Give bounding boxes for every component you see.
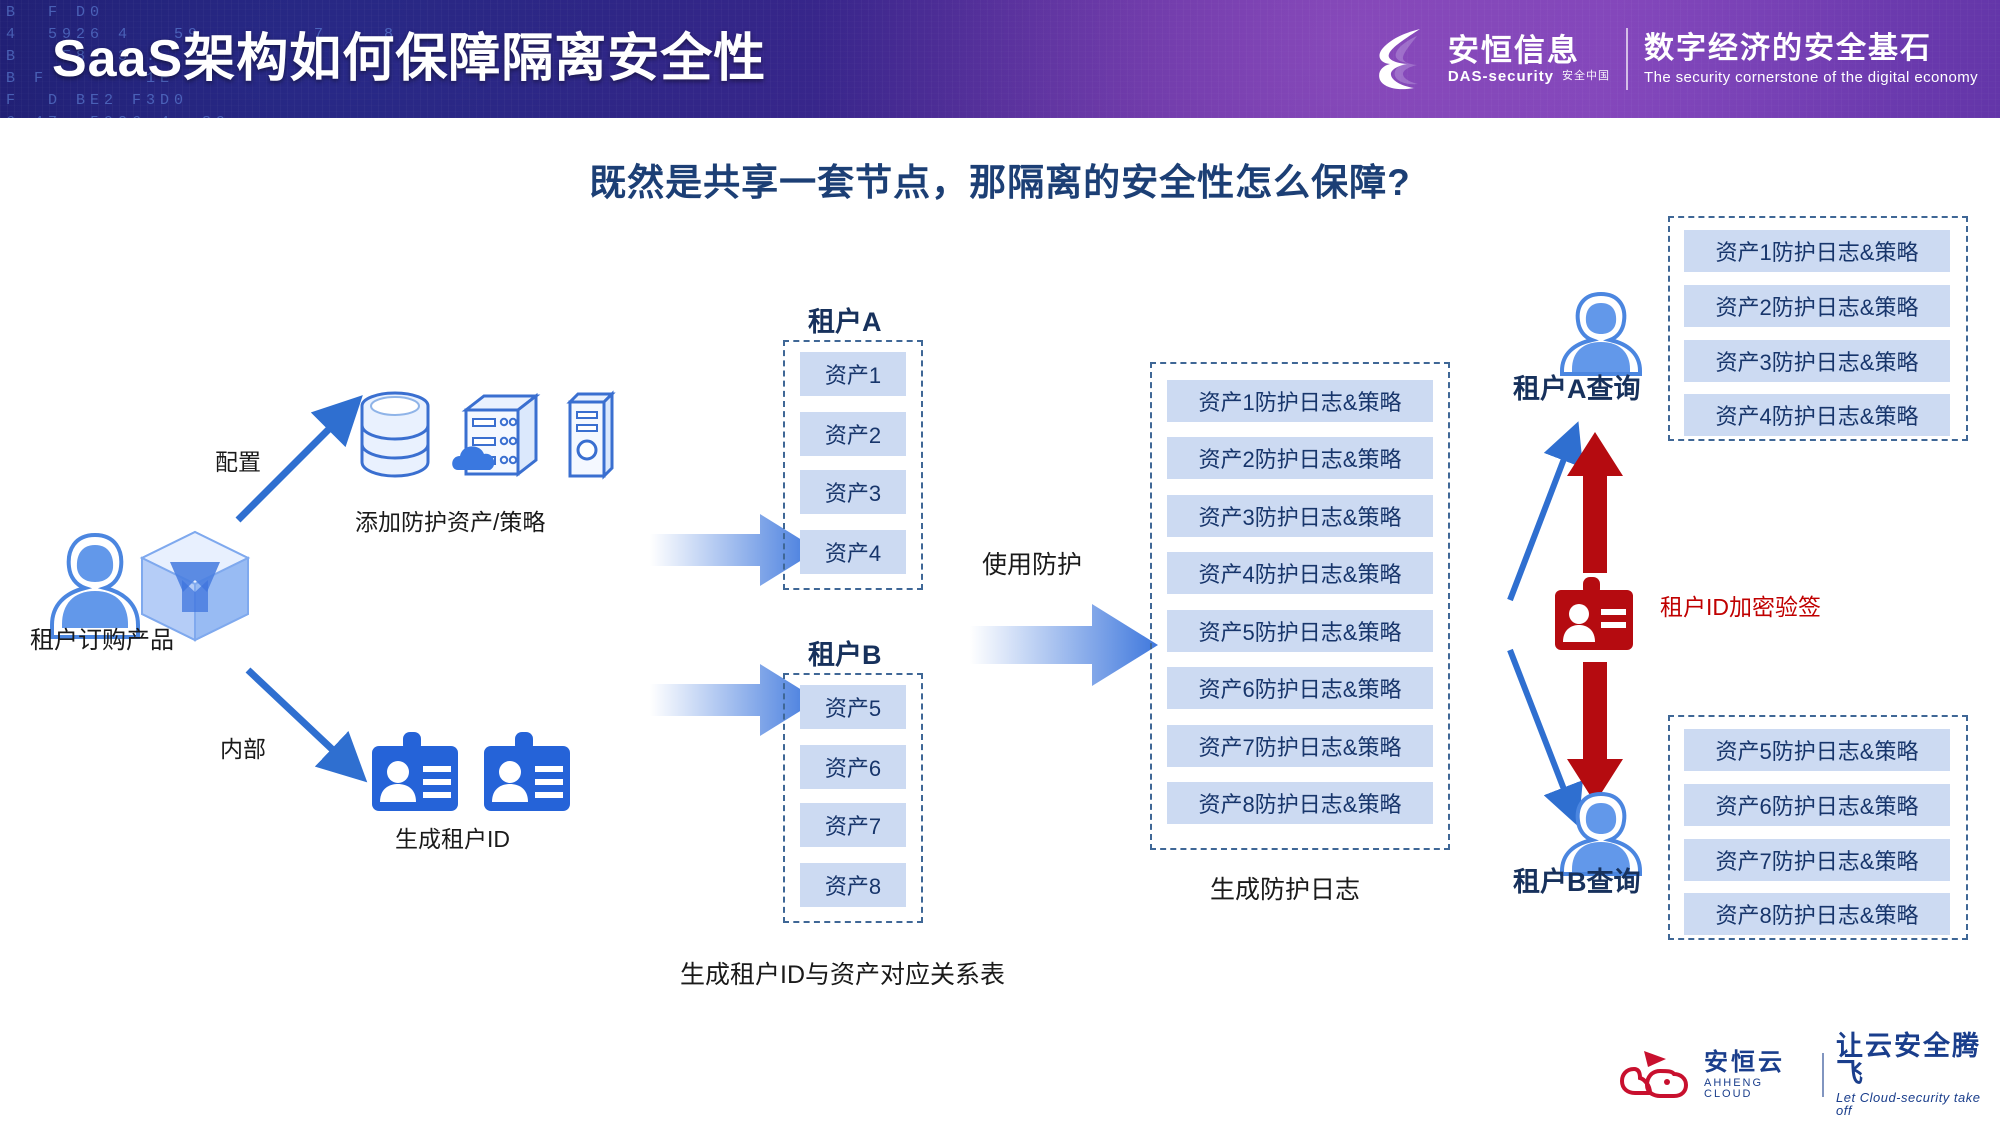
tenant-a-asset-4: 资产4 [800, 530, 906, 574]
tenant-a-title: 租户A [808, 300, 882, 339]
footer-brand-cn: 安恒云 [1704, 1051, 1810, 1075]
tenant-a-query-log-3: 资产3防护日志&策略 [1684, 340, 1950, 382]
tenant-b-asset-3: 资产7 [800, 803, 906, 847]
footer-tagline-en: Let Cloud-security take off [1836, 1091, 2000, 1117]
tenant-a-query-user-icon [1553, 290, 1649, 376]
tenant-b-asset-2: 资产6 [800, 745, 906, 789]
tenant-b-asset-4: 资产8 [800, 863, 906, 907]
use-protection-label: 使用防护 [982, 545, 1082, 581]
tenant-a-asset-1: 资产1 [800, 352, 906, 396]
use-protection-arrow [970, 600, 1160, 690]
configure-label: 配置 [215, 443, 261, 477]
protection-log-1: 资产1防护日志&策略 [1167, 380, 1433, 422]
tenant-b-query-log-1: 资产5防护日志&策略 [1684, 729, 1950, 771]
footer-tagline-cn: 让云安全腾飞 [1836, 1033, 2000, 1087]
tagline-block: 数字经济的安全基石 The security cornerstone of th… [1644, 34, 1978, 85]
protection-log-7: 资产7防护日志&策略 [1167, 725, 1433, 767]
tenant-b-title: 租户B [808, 633, 882, 672]
brand-name-en-cn: 安全中国 [1562, 71, 1610, 82]
page-title: SaaS架构如何保障隔离安全性 [52, 16, 766, 91]
footer-brand-en: AHHENG CLOUD [1704, 1078, 1810, 1100]
protection-log-6: 资产6防护日志&策略 [1167, 667, 1433, 709]
tenant-b-query-label: 租户B查询 [1513, 860, 1641, 899]
ahheng-cloud-logo-icon [1620, 1047, 1692, 1103]
slide-subtitle: 既然是共享一套节点，那隔离的安全性怎么保障? [0, 152, 2000, 206]
das-security-logo-icon [1374, 26, 1432, 92]
brand-name-cn: 安恒信息 [1448, 35, 1610, 66]
tagline-en: The security cornerstone of the digital … [1644, 70, 1978, 85]
protection-log-2: 资产2防护日志&策略 [1167, 437, 1433, 479]
id-badge-icon-2 [482, 730, 572, 815]
protection-logs-box [1150, 362, 1450, 850]
tenant-a-query-log-2: 资产2防护日志&策略 [1684, 285, 1950, 327]
brand-sub-row: DAS-security 安全中国 [1448, 69, 1610, 84]
tenant-a-query-log-4: 资产4防护日志&策略 [1684, 394, 1950, 436]
protection-log-3: 资产3防护日志&策略 [1167, 495, 1433, 537]
tenant-b-query-log-4: 资产8防护日志&策略 [1684, 893, 1950, 935]
footer-logo: 安恒云 AHHENG CLOUD 让云安全腾飞 Let Cloud-securi… [1620, 1043, 2000, 1107]
protection-log-8: 资产8防护日志&策略 [1167, 782, 1433, 824]
brand-text-block: 安恒信息 DAS-security 安全中国 [1448, 35, 1610, 84]
add-assets-label: 添加防护资产/策略 [355, 503, 545, 537]
tenant-b-query-log-3: 资产7防护日志&策略 [1684, 839, 1950, 881]
database-icon [355, 390, 435, 480]
mapping-table-label: 生成租户ID与资产对应关系表 [680, 955, 1005, 991]
brand-name-en: DAS-security [1448, 69, 1554, 84]
page-header: B F D0 4 5926 4 59 7 8 B E8 C3 . B F 1E … [0, 0, 2000, 118]
tenant-a-asset-3: 资产3 [800, 470, 906, 514]
tenant-a-query-label: 租户A查询 [1513, 367, 1641, 406]
tenant-b-asset-1: 资产5 [800, 685, 906, 729]
protection-log-4: 资产4防护日志&策略 [1167, 552, 1433, 594]
desktop-tower-icon [560, 388, 622, 483]
internal-label: 内部 [220, 730, 266, 764]
logo-divider [1626, 28, 1628, 90]
tenant-a-asset-2: 资产2 [800, 412, 906, 456]
tagline-cn: 数字经济的安全基石 [1644, 34, 1978, 64]
red-arrow-up [1565, 430, 1625, 575]
company-logo: 安恒信息 DAS-security 安全中国 数字经济的安全基石 The sec… [1374, 16, 1978, 102]
generate-tenant-id-label: 生成租户ID [395, 820, 510, 854]
cloud-server-icon [450, 388, 545, 483]
id-badge-icon-1 [370, 730, 460, 815]
protection-log-5: 资产5防护日志&策略 [1167, 610, 1433, 652]
tenant-order-label: 租户订购产品 [30, 620, 174, 655]
red-arrow-down [1565, 660, 1625, 805]
tenant-a-query-log-1: 资产1防护日志&策略 [1684, 230, 1950, 272]
footer-divider [1822, 1053, 1824, 1097]
tenant-b-query-log-2: 资产6防护日志&策略 [1684, 784, 1950, 826]
generate-logs-label: 生成防护日志 [1210, 870, 1360, 906]
encrypted-id-card-icon [1553, 575, 1635, 653]
encrypt-sign-label: 租户ID加密验签 [1660, 588, 1821, 622]
